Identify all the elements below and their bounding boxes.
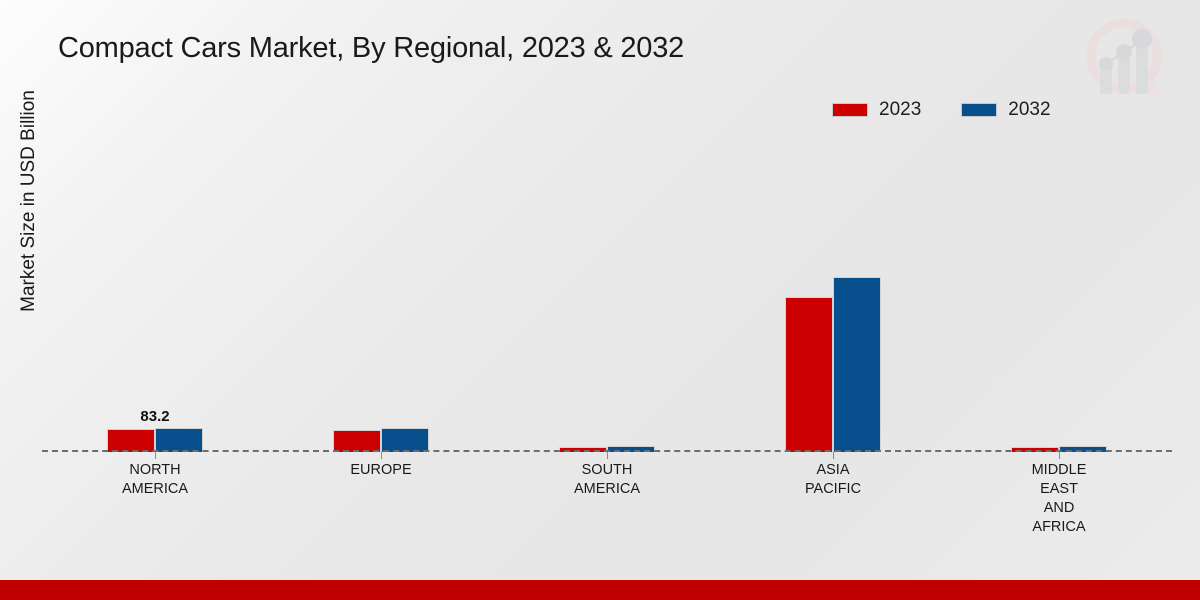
x-axis-baseline: [42, 450, 1172, 452]
bar-north-america-2023[interactable]: 83.2: [107, 429, 155, 452]
x-label-asia-pacific: ASIA PACIFIC: [758, 461, 908, 499]
bar-asia-pacific-2032[interactable]: [833, 277, 881, 452]
bars-north-america: 83.2: [107, 428, 203, 452]
legend-item-2023[interactable]: 2023: [832, 100, 921, 119]
x-tick-north-america: [155, 452, 156, 459]
bar-asia-pacific-2023[interactable]: [785, 297, 833, 452]
bar-group-asia-pacific: ASIA PACIFIC: [720, 140, 946, 452]
bar-europe-2023[interactable]: [333, 430, 381, 452]
legend-label-2032: 2032: [1008, 100, 1050, 119]
x-tick-asia-pacific: [833, 452, 834, 459]
bar-groups: 83.2 NORTH AMERICA EUROPE: [42, 140, 1172, 452]
footer-bar: [0, 580, 1200, 600]
x-tick-europe: [381, 452, 382, 459]
x-tick-south-america: [607, 452, 608, 459]
bar-north-america-2032[interactable]: [155, 428, 203, 452]
bar-group-north-america: 83.2 NORTH AMERICA: [42, 140, 268, 452]
x-label-north-america: NORTH AMERICA: [80, 461, 230, 499]
bar-value-north-america-2023: 83.2: [140, 408, 169, 425]
legend-label-2023: 2023: [879, 100, 921, 119]
bar-group-middle-east-and-africa: MIDDLE EAST AND AFRICA: [946, 140, 1172, 452]
y-axis-title: Market Size in USD Billion: [18, 36, 40, 366]
bar-group-south-america: SOUTH AMERICA: [494, 140, 720, 452]
legend-swatch-2023: [832, 103, 868, 117]
x-label-middle-east-and-africa: MIDDLE EAST AND AFRICA: [984, 461, 1134, 538]
x-label-south-america: SOUTH AMERICA: [532, 461, 682, 499]
x-label-europe: EUROPE: [306, 461, 456, 480]
plot-area: 83.2 NORTH AMERICA EUROPE: [42, 140, 1172, 452]
bars-europe: [333, 428, 429, 452]
chart-title: Compact Cars Market, By Regional, 2023 &…: [58, 32, 684, 65]
bar-europe-2032[interactable]: [381, 428, 429, 452]
chart-legend: 2023 2032: [832, 100, 1051, 119]
x-tick-middle-east-and-africa: [1059, 452, 1060, 459]
bars-asia-pacific: [785, 277, 881, 452]
bar-group-europe: EUROPE: [268, 140, 494, 452]
chart-canvas: Compact Cars Market, By Regional, 2023 &…: [0, 0, 1200, 600]
legend-item-2032[interactable]: 2032: [961, 100, 1050, 119]
market-research-logo-icon: [1072, 12, 1176, 108]
legend-swatch-2032: [961, 103, 997, 117]
